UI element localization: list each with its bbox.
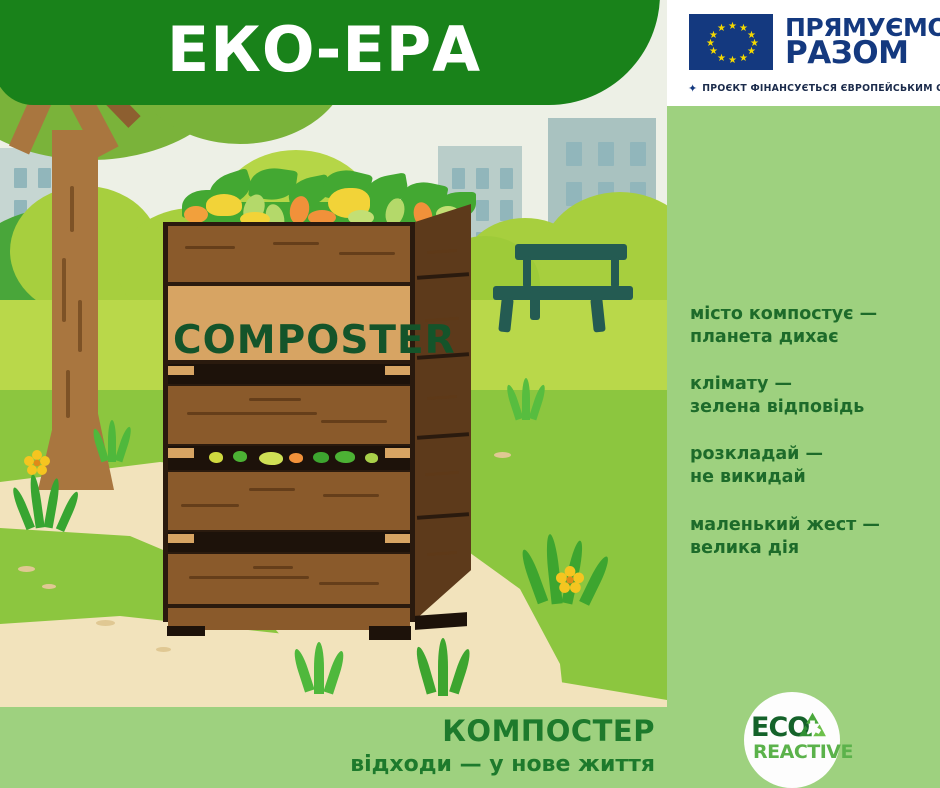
path-pebble <box>156 647 171 652</box>
slogan-list: місто компостує — планета дихає клімату … <box>690 303 940 584</box>
bench-leg-back-left <box>530 290 540 320</box>
star-icon: ★ <box>747 47 756 57</box>
european-union-flag: ★ ★ ★ ★ ★ ★ ★ ★ ★ ★ ★ ★ <box>689 14 773 70</box>
bench-seat <box>493 286 633 300</box>
caption-title: КОМПОСТЕР <box>300 714 655 748</box>
composter-foot-left <box>167 626 205 636</box>
poster-canvas: COMPOSTER <box>0 0 940 788</box>
window <box>630 142 646 166</box>
star-icon: ★ <box>717 54 726 64</box>
vegetable-yellow <box>206 194 242 216</box>
composter-side <box>415 204 471 620</box>
flower-yellow <box>556 566 582 592</box>
eu-funding-note-text: ПРОЄКТ ФІНАНСУЄТЬСЯ ЄВРОПЕЙСЬКИМ СОЮЗОМ <box>702 83 940 94</box>
composter-tab <box>168 366 194 375</box>
compost-scrap <box>335 451 355 463</box>
window <box>500 168 513 189</box>
eu-slogan: ПРЯМУЄМО РАЗОМ <box>785 16 940 68</box>
slogan-line1: місто компостує — <box>690 303 940 326</box>
compost-scrap <box>365 453 378 463</box>
trunk-crack <box>70 186 74 232</box>
compost-scrap <box>313 452 329 463</box>
slogan-item: розкладай — не викидай <box>690 443 940 489</box>
composter-foot-right <box>369 626 411 640</box>
compost-scrap <box>259 452 283 465</box>
grass-tuft <box>314 642 324 694</box>
path-pebble <box>18 566 35 572</box>
trunk-crack <box>66 370 70 418</box>
path-pebble <box>42 584 56 589</box>
wood-grain <box>323 494 379 497</box>
slogan-line1: розкладай — <box>690 443 940 466</box>
illustration-park-composter: COMPOSTER <box>0 0 667 707</box>
eco-reactive-logo: ECO REACTIVE <box>744 692 840 788</box>
star-icon: ★ <box>728 56 737 66</box>
composter-plank <box>168 472 410 530</box>
window <box>566 142 582 166</box>
grass-tuft <box>438 638 448 696</box>
wood-grain <box>185 246 235 249</box>
composter-foot-side <box>415 612 467 630</box>
window <box>38 168 51 188</box>
window <box>500 200 513 221</box>
composter-plank <box>168 554 410 604</box>
eu-funding-note: ✦ ПРОЄКТ ФІНАНСУЄТЬСЯ ЄВРОПЕЙСЬКИМ СОЮЗО… <box>688 82 928 95</box>
eu-slogan-line2: РАЗОМ <box>785 39 940 68</box>
eu-logo-row: ★ ★ ★ ★ ★ ★ ★ ★ ★ ★ ★ ★ ПРЯМУЄМО РАЗОМ <box>689 14 940 70</box>
bench-back-support-right <box>611 256 619 288</box>
composter-bin: COMPOSTER <box>163 222 478 642</box>
compost-scrap <box>209 452 223 463</box>
star-icon: ★ <box>739 54 748 64</box>
page-title: ЕКО-ЕРА <box>0 0 654 105</box>
wood-grain <box>253 566 293 569</box>
slogan-item: маленький жест — велика дія <box>690 514 940 560</box>
wood-grain <box>189 576 309 579</box>
composter-tab <box>385 448 410 458</box>
slogan-item: клімату — зелена відповідь <box>690 373 940 419</box>
slogan-item: місто компостує — планета дихає <box>690 303 940 349</box>
slogan-line1: маленький жест — <box>690 514 940 537</box>
wood-grain <box>321 420 387 423</box>
trunk-crack <box>78 300 82 352</box>
star-icon: ★ <box>728 22 737 32</box>
composter-tab <box>168 448 194 458</box>
flower-icon <box>556 566 584 594</box>
slogan-line2: зелена відповідь <box>690 396 940 419</box>
slogan-line2: не викидай <box>690 466 940 489</box>
eco-logo-inner: ECO REACTIVE <box>749 710 835 770</box>
header-banner: ЕКО-ЕРА <box>0 0 660 105</box>
star-icon: ★ <box>717 24 726 34</box>
composter-slot <box>168 532 410 552</box>
eco-logo-word-bottom: REACTIVE <box>753 741 853 763</box>
wood-grain <box>249 488 295 491</box>
wood-grain <box>187 412 317 415</box>
slogan-line2: планета дихає <box>690 326 940 349</box>
wood-grain <box>273 242 319 245</box>
composter-plank <box>168 386 410 444</box>
flower-yellow <box>24 450 50 476</box>
wood-grain <box>249 398 301 401</box>
compost-scrap <box>233 451 247 462</box>
composter-label: COMPOSTER <box>173 318 405 363</box>
window <box>14 168 27 188</box>
trunk-crack <box>62 258 66 322</box>
vegetable-orange <box>184 206 208 223</box>
flower-icon <box>24 450 50 476</box>
composter-tab <box>385 534 410 543</box>
slogan-line2: велика дія <box>690 537 940 560</box>
recycling-triangle-icon <box>796 711 829 741</box>
bullet-star-icon: ✦ <box>688 82 697 95</box>
compost-scrap <box>289 453 303 463</box>
composter-tab <box>385 366 410 375</box>
path-pebble <box>494 452 511 458</box>
wood-grain <box>181 504 239 507</box>
composter-slot <box>168 364 410 384</box>
wood-grain <box>319 582 379 585</box>
caption-subtitle: відходи — у нове життя <box>240 752 655 777</box>
composter-tab <box>168 534 194 543</box>
path-pebble <box>96 620 115 626</box>
wood-grain <box>339 252 395 255</box>
eu-funding-logo: ★ ★ ★ ★ ★ ★ ★ ★ ★ ★ ★ ★ ПРЯМУЄМО РАЗОМ ✦… <box>667 0 940 106</box>
window <box>598 142 614 166</box>
bench-back-support-left <box>523 256 531 288</box>
slogan-line1: клімату — <box>690 373 940 396</box>
